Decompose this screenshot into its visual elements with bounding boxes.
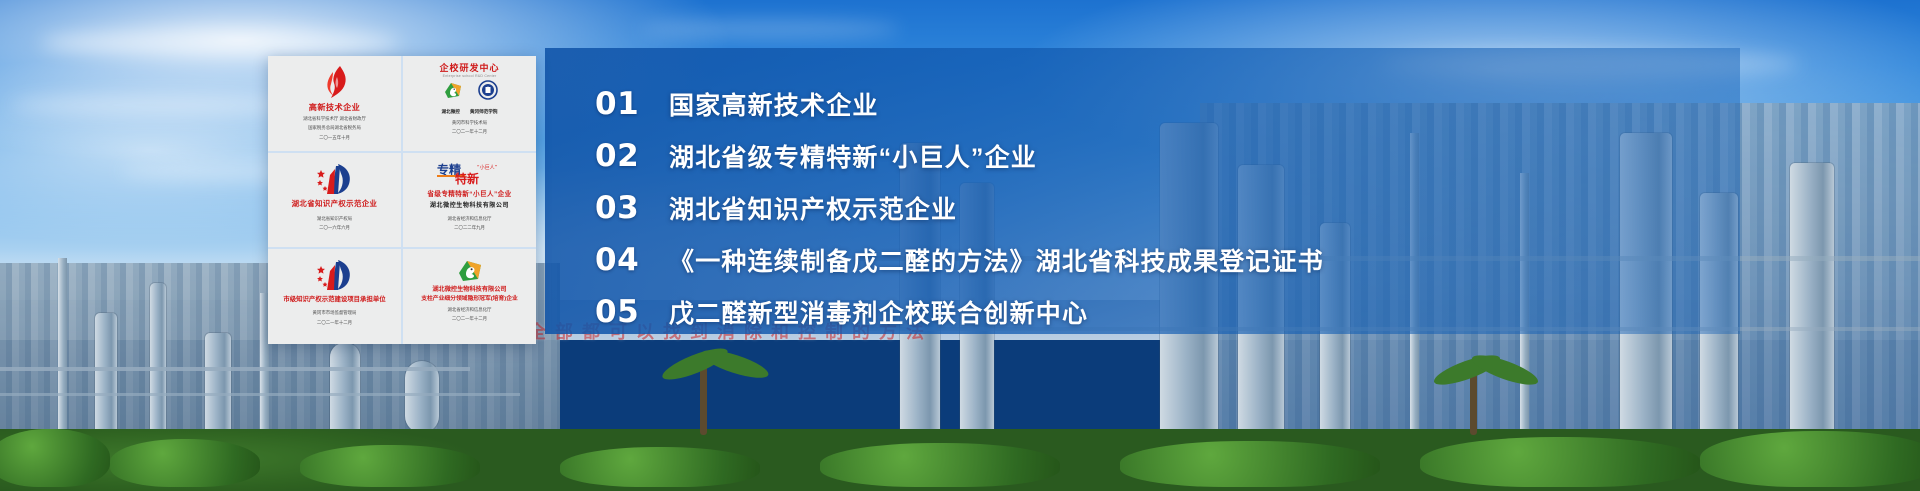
shrub <box>300 445 480 487</box>
svg-text:“小巨人”: “小巨人” <box>477 164 498 171</box>
certificate-title: 市级知识产权示范建设项目承担单位 <box>283 296 385 304</box>
honor-item: 03 湖北省知识产权示范企业 <box>595 182 1735 234</box>
certificate-org-left: 湖北微控 <box>442 109 460 116</box>
certificate-issuer-1: 湖北省经济和信息化厅 <box>448 216 492 223</box>
certificate-headline: 支柱产业细分领域隐形冠军(培育)企业 <box>421 296 518 303</box>
certificate-issuer-1: 湖北省经济和信息化厅 <box>448 307 492 314</box>
certificate-cell[interactable]: 湖北省知识产权示范企业 湖北省知识产权局 二〇一六年六月 <box>268 153 401 248</box>
certificate-title: 湖北省知识产权示范企业 <box>292 200 378 209</box>
cloud-streak <box>640 20 900 38</box>
certificate-date: 二〇二一年十二月 <box>452 316 487 323</box>
banner-stage: 全部都可以找到消除和控制的方法 01 国家高新技术企业 02 湖北省级专精特新“… <box>0 0 1920 491</box>
certificate-date: 二〇二一年十二月 <box>452 129 487 136</box>
cloud-streak <box>40 30 400 56</box>
certificate-issuer-1: 黄冈市市场监督管理局 <box>313 310 357 317</box>
certificate-grid: 高新技术企业 湖北省科学技术厅 湖北省财政厅 国家税务总局湖北省税务局 二〇一五… <box>268 56 536 344</box>
shrub <box>820 443 1060 487</box>
certificate-date: 二〇二一年十二月 <box>317 320 352 327</box>
distillation-tower <box>95 313 117 433</box>
blue-red-star-icon <box>314 160 356 198</box>
distillation-tower <box>1790 163 1834 433</box>
honor-item: 02 湖北省级专精特新“小巨人”企业 <box>595 130 1735 182</box>
certificate-title: 湖北微控生物科技有限公司 <box>432 286 506 293</box>
smoke-stack <box>58 258 67 433</box>
honor-number: 05 <box>595 294 669 330</box>
distillation-tower <box>150 283 166 433</box>
certificate-issuer-1: 湖北省科学技术厅 湖北省财政厅 <box>303 116 366 123</box>
pipe-rack <box>0 367 470 371</box>
certificate-issuer-1: 湖北省知识产权局 <box>317 216 352 223</box>
honor-number: 03 <box>595 190 669 226</box>
honor-number: 01 <box>595 86 669 122</box>
certificate-cell[interactable]: 专精 特新 “小巨人” 省级专精特新“小巨人”企业 湖北微控生物科技有限公司 湖… <box>403 153 536 248</box>
honors-list: 01 国家高新技术企业 02 湖北省级专精特新“小巨人”企业 03 湖北省知识产… <box>595 78 1735 338</box>
shrub <box>1700 431 1920 487</box>
honor-number: 04 <box>595 242 669 278</box>
red-flame-icon <box>320 63 350 101</box>
university-seal-icon <box>478 80 498 105</box>
honor-label: 戊二醛新型消毒剂企校联合创新中心 <box>669 294 1088 330</box>
blue-red-star-icon <box>314 256 356 294</box>
certificate-headline: 省级专精特新“小巨人”企业 <box>427 191 511 199</box>
honor-number: 02 <box>595 138 669 174</box>
certificate-date: 二〇一六年六月 <box>319 225 350 232</box>
honor-item: 01 国家高新技术企业 <box>595 78 1735 130</box>
certificate-org-right: 黄冈师范学院 <box>470 109 498 116</box>
certificate-title: 高新技术企业 <box>309 103 361 113</box>
storage-tank <box>205 333 231 433</box>
cloud-streak <box>10 95 310 115</box>
pipe-rack <box>0 393 520 396</box>
honor-label: 湖北省知识产权示范企业 <box>669 190 957 226</box>
storage-tank <box>330 343 360 433</box>
shrub <box>1120 441 1380 487</box>
certificate-cell[interactable]: 企校研发中心 Enterprise school R&D Center <box>403 56 536 151</box>
certificate-cell[interactable]: 湖北微控生物科技有限公司 支柱产业细分领域隐形冠军(培育)企业 湖北省经济和信息… <box>403 249 536 344</box>
certificate-date: 二〇一五年十月 <box>319 135 350 142</box>
shrub <box>1420 437 1700 487</box>
honor-label: 湖北省级专精特新“小巨人”企业 <box>669 138 1037 174</box>
certificate-issuer-1: 黄冈市科学技术局 <box>452 120 487 127</box>
green-duck-icon <box>455 256 485 284</box>
svg-text:特新: 特新 <box>455 171 479 186</box>
honor-label: 《一种连续制备戊二醛的方法》湖北省科技成果登记证书 <box>669 242 1324 278</box>
certificate-date: 二〇二二年九月 <box>454 225 485 232</box>
palm-tree <box>700 365 707 435</box>
spherical-tank <box>405 361 439 433</box>
certificate-issuer-2: 国家税务总局湖北省税务局 <box>308 125 361 132</box>
honor-item: 05 戊二醛新型消毒剂企校联合创新中心 <box>595 286 1735 338</box>
certificate-cell[interactable]: 高新技术企业 湖北省科学技术厅 湖北省财政厅 国家税务总局湖北省税务局 二〇一五… <box>268 56 401 151</box>
certificate-title-english: Enterprise school R&D Center <box>443 74 497 78</box>
green-duck-icon <box>442 80 464 105</box>
honor-label: 国家高新技术企业 <box>669 86 879 122</box>
zhuanjingtexin-icon: 专精 特新 “小巨人” <box>437 160 503 188</box>
certificate-title: 企校研发中心 <box>439 63 499 74</box>
certificate-company: 湖北微控生物科技有限公司 <box>430 202 509 211</box>
palm-tree <box>1470 371 1477 435</box>
shrub <box>0 429 110 487</box>
certificate-cell[interactable]: 市级知识产权示范建设项目承担单位 黄冈市市场监督管理局 二〇二一年十二月 <box>268 249 401 344</box>
shrub <box>110 439 260 487</box>
honor-item: 04 《一种连续制备戊二醛的方法》湖北省科技成果登记证书 <box>595 234 1735 286</box>
shrub <box>560 447 760 487</box>
